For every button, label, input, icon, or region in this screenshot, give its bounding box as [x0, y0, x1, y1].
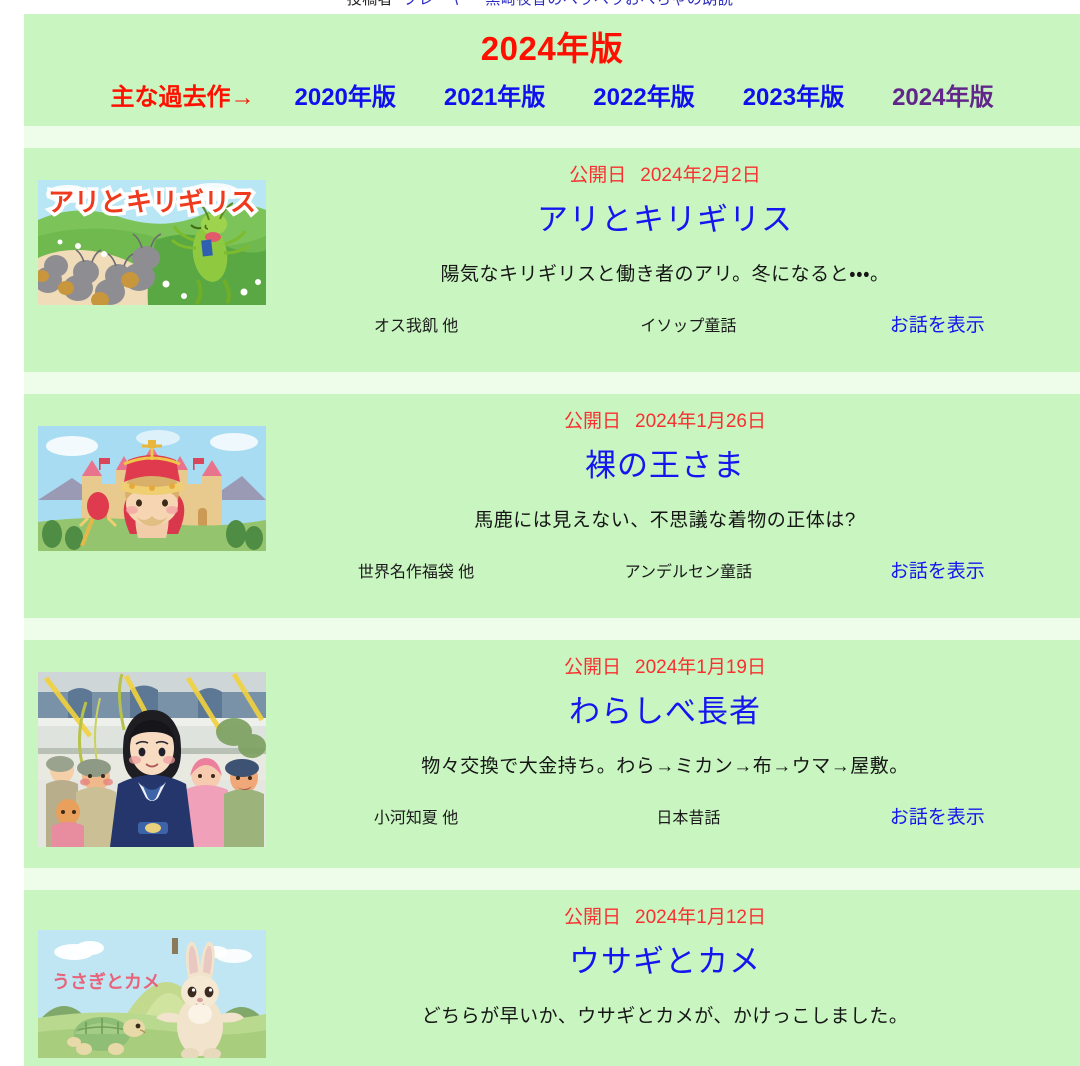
section-gap: [24, 126, 1080, 148]
story-meta-row: 世界名作福袋 他 アンデルセン童話 お話を表示: [276, 556, 1054, 583]
year-link-2020[interactable]: 2020年版: [295, 77, 396, 112]
thumb-caption: うさぎとカメ: [52, 971, 160, 992]
publish-date-row: 公開日2024年1月12日: [276, 904, 1054, 933]
story-body: 公開日2024年1月26日 裸の王さま 馬鹿には見えない、不思議な着物の正体は?…: [276, 404, 1080, 583]
story-author: 世界名作福袋 他: [276, 558, 556, 582]
clipped-top-line: 投稿者プレーヤー 黒崎夜音のベラベラおべちゃの朗読: [0, 0, 1080, 14]
thumbnail-container[interactable]: アリとキリギリス アリとキリギリス: [24, 158, 276, 305]
publish-date-value: 2024年1月19日: [635, 657, 766, 678]
show-story-link-container[interactable]: お話を表示: [821, 802, 1054, 829]
story-description: 物々交換で大金持ち。わら→ミカン→布→ウマ→屋敷。: [276, 753, 1054, 782]
story-description: どちらが早いか、ウサギとカメが、かけっこしました。: [276, 1003, 1054, 1032]
story-author: オス我飢 他: [276, 312, 556, 336]
show-story-link-container[interactable]: お話を表示: [821, 556, 1054, 583]
story-body: 公開日2024年1月12日 ウサギとカメ どちらが早いか、ウサギとカメが、かけっ…: [276, 900, 1080, 1032]
show-story-link-container[interactable]: お話を表示: [821, 310, 1054, 337]
publish-date-value: 2024年1月12日: [635, 907, 766, 928]
story-title[interactable]: ウサギとカメ: [276, 939, 1054, 986]
year-link-2024[interactable]: 2024年版: [892, 77, 993, 112]
story-meta-row: 小河知夏 他 日本昔話 お話を表示: [276, 802, 1054, 829]
page-container: 2024年版 主な過去作→ 2020年版 2021年版 2022年版 2023年…: [24, 14, 1080, 1066]
section-gap: [24, 868, 1080, 890]
story-title-text: わらしべ長者: [569, 694, 761, 729]
story-author: 小河知夏 他: [276, 804, 556, 828]
publish-date-value: 2024年1月26日: [635, 411, 766, 432]
year-navigation: 主な過去作→ 2020年版 2021年版 2022年版 2023年版 2024年…: [24, 77, 1080, 116]
publish-date-row: 公開日2024年1月19日: [276, 654, 1054, 683]
thumbnail-container[interactable]: [24, 404, 276, 551]
show-story-link[interactable]: お話を表示: [890, 315, 985, 336]
story-title-text: ウサギとカメ: [569, 944, 761, 979]
publish-date-label: 公開日: [564, 411, 621, 432]
thumbnail-container[interactable]: うさぎとカメ: [24, 900, 276, 1058]
story-body: 公開日2024年2月2日 アリとキリギリス 陽気なキリギリスと働き者のアリ。冬に…: [276, 158, 1080, 337]
thumb-warashibe-chouja[interactable]: [38, 672, 266, 847]
story-body: 公開日2024年1月19日 わらしべ長者 物々交換で大金持ち。わら→ミカン→布→…: [276, 650, 1080, 829]
show-story-link[interactable]: お話を表示: [890, 807, 985, 828]
publish-date-label: 公開日: [564, 907, 621, 928]
poster-name: プレーヤー 黒崎夜音のベラベラおべちゃの朗読: [403, 0, 733, 8]
page-header: 2024年版 主な過去作→ 2020年版 2021年版 2022年版 2023年…: [24, 14, 1080, 126]
year-link-2022[interactable]: 2022年版: [593, 77, 694, 112]
publish-date-row: 公開日2024年1月26日: [276, 408, 1054, 437]
story-card[interactable]: 公開日2024年1月26日 裸の王さま 馬鹿には見えない、不思議な着物の正体は?…: [24, 394, 1080, 618]
story-source: アンデルセン童話: [556, 558, 821, 582]
story-description: 馬鹿には見えない、不思議な着物の正体は?: [276, 507, 1054, 536]
publish-date-label: 公開日: [569, 165, 626, 186]
story-title[interactable]: アリとキリギリス: [276, 197, 1054, 244]
publish-date-row: 公開日2024年2月2日: [276, 162, 1054, 191]
section-gap: [24, 372, 1080, 394]
story-description: 陽気なキリギリスと働き者のアリ。冬になると・・・。: [276, 261, 1054, 290]
page-title: 2024年版: [24, 28, 1080, 69]
past-works-label: 主な過去作→: [111, 77, 255, 112]
story-meta-row: オス我飢 他 イソップ童話 お話を表示: [276, 310, 1054, 337]
year-link-2023[interactable]: 2023年版: [743, 77, 844, 112]
story-title-text: 裸の王さま: [585, 448, 745, 483]
year-link-2021[interactable]: 2021年版: [444, 77, 545, 112]
poster-label: 投稿者: [347, 0, 394, 8]
story-card[interactable]: うさぎとカメ 公開日2024年1月12日 ウサギとカメ どちらが早いか、ウサギと…: [24, 890, 1080, 1066]
section-gap: [24, 618, 1080, 640]
thumb-usagi-to-kame[interactable]: うさぎとカメ: [38, 930, 266, 1058]
story-title-text: アリとキリギリス: [537, 202, 793, 237]
thumb-hadaka-no-ousama[interactable]: [38, 426, 266, 551]
thumbnail-container[interactable]: [24, 650, 276, 847]
publish-date-value: 2024年2月2日: [640, 165, 760, 186]
story-title[interactable]: わらしべ長者: [276, 689, 1054, 736]
story-title[interactable]: 裸の王さま: [276, 443, 1054, 490]
story-card[interactable]: アリとキリギリス アリとキリギリス 公開日2024年2月2日 アリとキリギリス …: [24, 148, 1080, 372]
story-source: イソップ童話: [556, 312, 821, 336]
story-source: 日本昔話: [556, 804, 821, 828]
story-card[interactable]: 公開日2024年1月19日 わらしべ長者 物々交換で大金持ち。わら→ミカン→布→…: [24, 640, 1080, 868]
thumb-caption: アリとキリギリス: [48, 187, 256, 217]
thumb-ari-to-kirigirisu[interactable]: アリとキリギリス アリとキリギリス: [38, 180, 266, 305]
show-story-link[interactable]: お話を表示: [890, 561, 985, 582]
publish-date-label: 公開日: [564, 657, 621, 678]
